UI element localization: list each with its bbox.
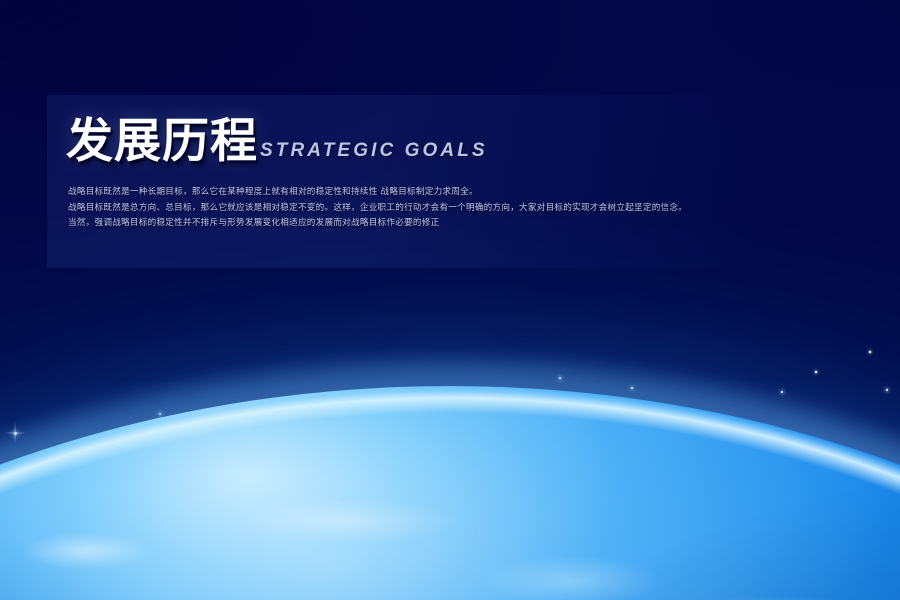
star [159,413,161,415]
headline-chinese: 发展历程 [66,118,258,165]
body-line: 战略目标既然是一种长期目标，那么它在某种程度上就有相对的稳定性和持续性 战略目标… [68,185,740,201]
star [886,389,888,391]
headline: 发展历程 STRATEGIC GOALS [66,118,488,165]
star [781,391,783,393]
headline-english: STRATEGIC GOALS [260,140,488,165]
star [559,377,561,379]
star [631,387,632,388]
body-line: 当然，强调战略目标的稳定性并不排斥与形势发展变化相适应的发展而对战略目标作必要的… [68,216,740,232]
star [14,432,17,435]
hero-banner: 发展历程 STRATEGIC GOALS 战略目标既然是一种长期目标，那么它在某… [0,0,900,600]
body-copy: 战略目标既然是一种长期目标，那么它在某种程度上就有相对的稳定性和持续性 战略目标… [68,185,740,232]
body-line: 战略目标既然是总方向、总目标，那么它就应该是相对稳定不变的。这样，企业职工的行动… [68,201,740,217]
star [815,371,816,372]
star [869,351,870,352]
